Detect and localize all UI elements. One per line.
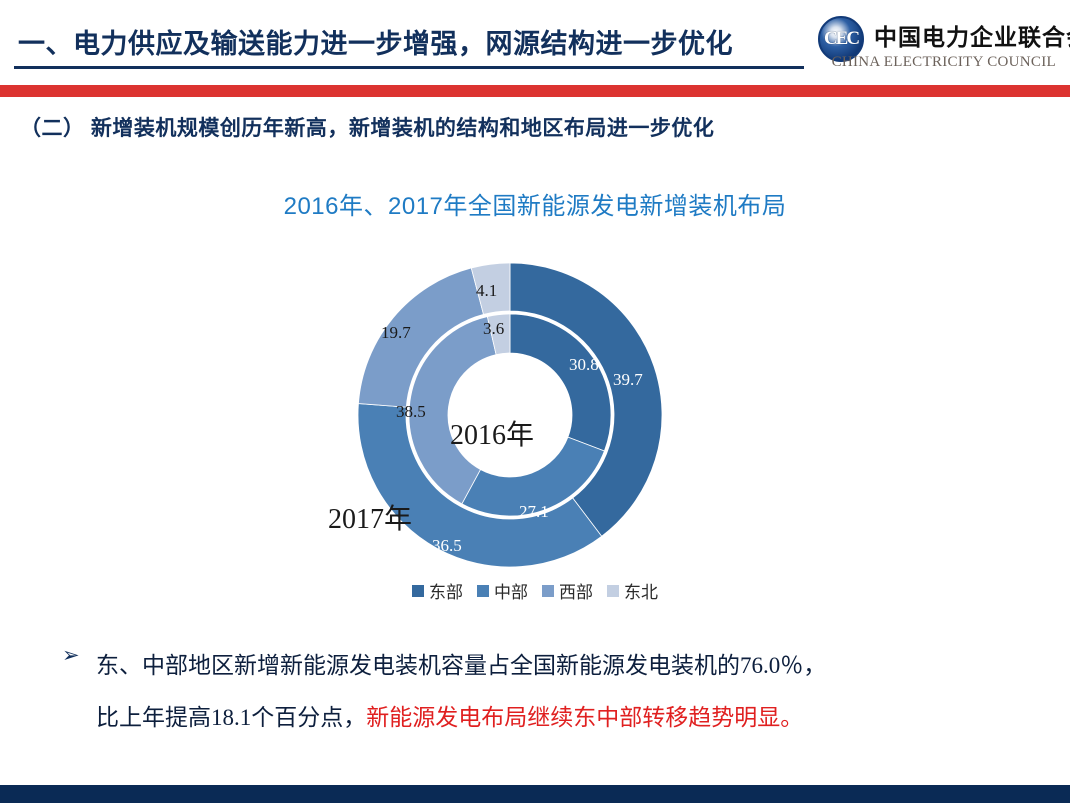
legend-item-west[interactable]: 西部 bbox=[542, 578, 593, 603]
note-line-2-red: 新能源发电布局继续东中部转移趋势明显。 bbox=[366, 705, 803, 730]
legend-label-northeast: 东北 bbox=[624, 578, 658, 603]
legend-item-central[interactable]: 中部 bbox=[477, 578, 528, 603]
slide-header: 一、电力供应及输送能力进一步增强，网源结构进一步优化 CEC 中国电力企业联合会… bbox=[0, 0, 1070, 85]
arrow-bullet-icon: ➢ bbox=[62, 645, 80, 666]
note-line-2-black: 比上年提高18.1个百分点， bbox=[96, 705, 366, 730]
legend-swatch-central bbox=[477, 585, 489, 597]
nested-donut-chart: 39.7 36.5 19.7 4.1 30.8 27.1 38.5 3.6 20… bbox=[285, 255, 735, 575]
legend-item-east[interactable]: 东部 bbox=[412, 578, 463, 603]
ring-name-2017: 2017年 bbox=[328, 497, 412, 537]
logo-chinese-name: 中国电力企业联合会 bbox=[874, 18, 1070, 52]
legend-swatch-northeast bbox=[607, 585, 619, 597]
red-divider bbox=[0, 85, 1070, 97]
section-subheading: （二） 新增装机规模创历年新高，新增装机的结构和地区布局进一步优化 bbox=[20, 112, 714, 142]
legend-label-west: 西部 bbox=[559, 578, 593, 603]
legend-item-northeast[interactable]: 东北 bbox=[607, 578, 658, 603]
page-title: 一、电力供应及输送能力进一步增强，网源结构进一步优化 bbox=[18, 22, 733, 61]
organization-logo: CEC 中国电力企业联合会 CHINA ELECTRICITY COUNCIL bbox=[806, 14, 1056, 82]
slide-root: 一、电力供应及输送能力进一步增强，网源结构进一步优化 CEC 中国电力企业联合会… bbox=[0, 0, 1070, 803]
note-line-1: 东、中部地区新增新能源发电装机容量占全国新能源发电装机的76.0％， bbox=[96, 640, 826, 692]
ring-name-2016: 2016年 bbox=[450, 413, 534, 453]
legend-label-central: 中部 bbox=[494, 578, 528, 603]
chart-legend: 东部 中部 西部 东北 bbox=[0, 578, 1070, 603]
footer-bar bbox=[0, 785, 1070, 803]
title-underline bbox=[14, 66, 804, 69]
legend-label-east: 东部 bbox=[429, 578, 463, 603]
note-line-2: 比上年提高18.1个百分点，新能源发电布局继续东中部转移趋势明显。 bbox=[96, 692, 803, 744]
legend-swatch-east bbox=[412, 585, 424, 597]
logo-english-name: CHINA ELECTRICITY COUNCIL bbox=[806, 54, 1056, 71]
legend-swatch-west bbox=[542, 585, 554, 597]
chart-title: 2016年、2017年全国新能源发电新增装机布局 bbox=[0, 186, 1070, 221]
